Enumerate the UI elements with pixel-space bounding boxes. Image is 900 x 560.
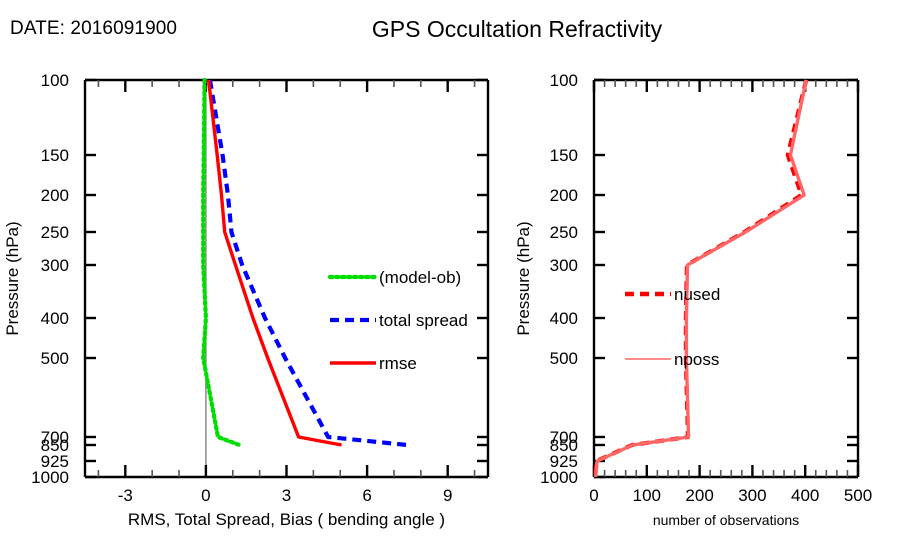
x-tick-label: 6 <box>362 486 371 505</box>
y-tick-label: 400 <box>550 309 578 328</box>
y-tick-label: 200 <box>550 186 578 205</box>
y-tick-label: 250 <box>550 223 578 242</box>
y-tick-label: 250 <box>41 223 69 242</box>
series-nposs <box>596 80 807 477</box>
x-tick-label: 9 <box>443 486 452 505</box>
y-tick-label: 150 <box>550 146 578 165</box>
y-tick-label: 100 <box>41 71 69 90</box>
y-tick-label: 400 <box>41 309 69 328</box>
x-tick-label: 200 <box>685 486 713 505</box>
figure-root: DATE: 2016091900 GPS Occultation Refract… <box>0 0 900 560</box>
series-rmse <box>209 80 342 445</box>
x-tick-label: 0 <box>589 486 598 505</box>
y-tick-label: 300 <box>41 256 69 275</box>
y-axis-title: Pressure (hPa) <box>514 221 533 335</box>
plot-canvas: 1001502002503004005007008509251000-30369… <box>0 0 900 560</box>
x-tick-label: 500 <box>844 486 872 505</box>
y-tick-label: 300 <box>550 256 578 275</box>
legend-label--model-ob-: (model-ob) <box>379 268 461 287</box>
legend-label-nused: nused <box>674 285 720 304</box>
y-tick-label: 500 <box>41 349 69 368</box>
y-tick-label: 100 <box>550 71 578 90</box>
y-tick-label: 1000 <box>31 468 69 487</box>
series-nused <box>595 80 806 477</box>
x-tick-label: 0 <box>201 486 210 505</box>
left-panel: 1001502002503004005007008509251000-30369… <box>3 71 488 529</box>
y-tick-label: 500 <box>550 349 578 368</box>
x-tick-label: 400 <box>791 486 819 505</box>
right-panel: 1001502002503004005007008509251000010020… <box>514 71 872 528</box>
y-tick-label: 200 <box>41 186 69 205</box>
x-axis-title: number of observations <box>653 512 799 528</box>
x-tick-label: 100 <box>633 486 661 505</box>
y-axis-title: Pressure (hPa) <box>3 221 22 335</box>
y-tick-label: 1000 <box>540 468 578 487</box>
y-tick-label: 150 <box>41 146 69 165</box>
series-total-spread <box>210 80 407 445</box>
legend-label-rmse: rmse <box>379 354 417 373</box>
x-tick-label: -3 <box>118 486 133 505</box>
legend-label-total-spread: total spread <box>379 311 468 330</box>
x-tick-label: 300 <box>738 486 766 505</box>
x-axis-title: RMS, Total Spread, Bias ( bending angle … <box>128 510 445 529</box>
legend-label-nposs: nposs <box>674 350 719 369</box>
x-tick-label: 3 <box>282 486 291 505</box>
